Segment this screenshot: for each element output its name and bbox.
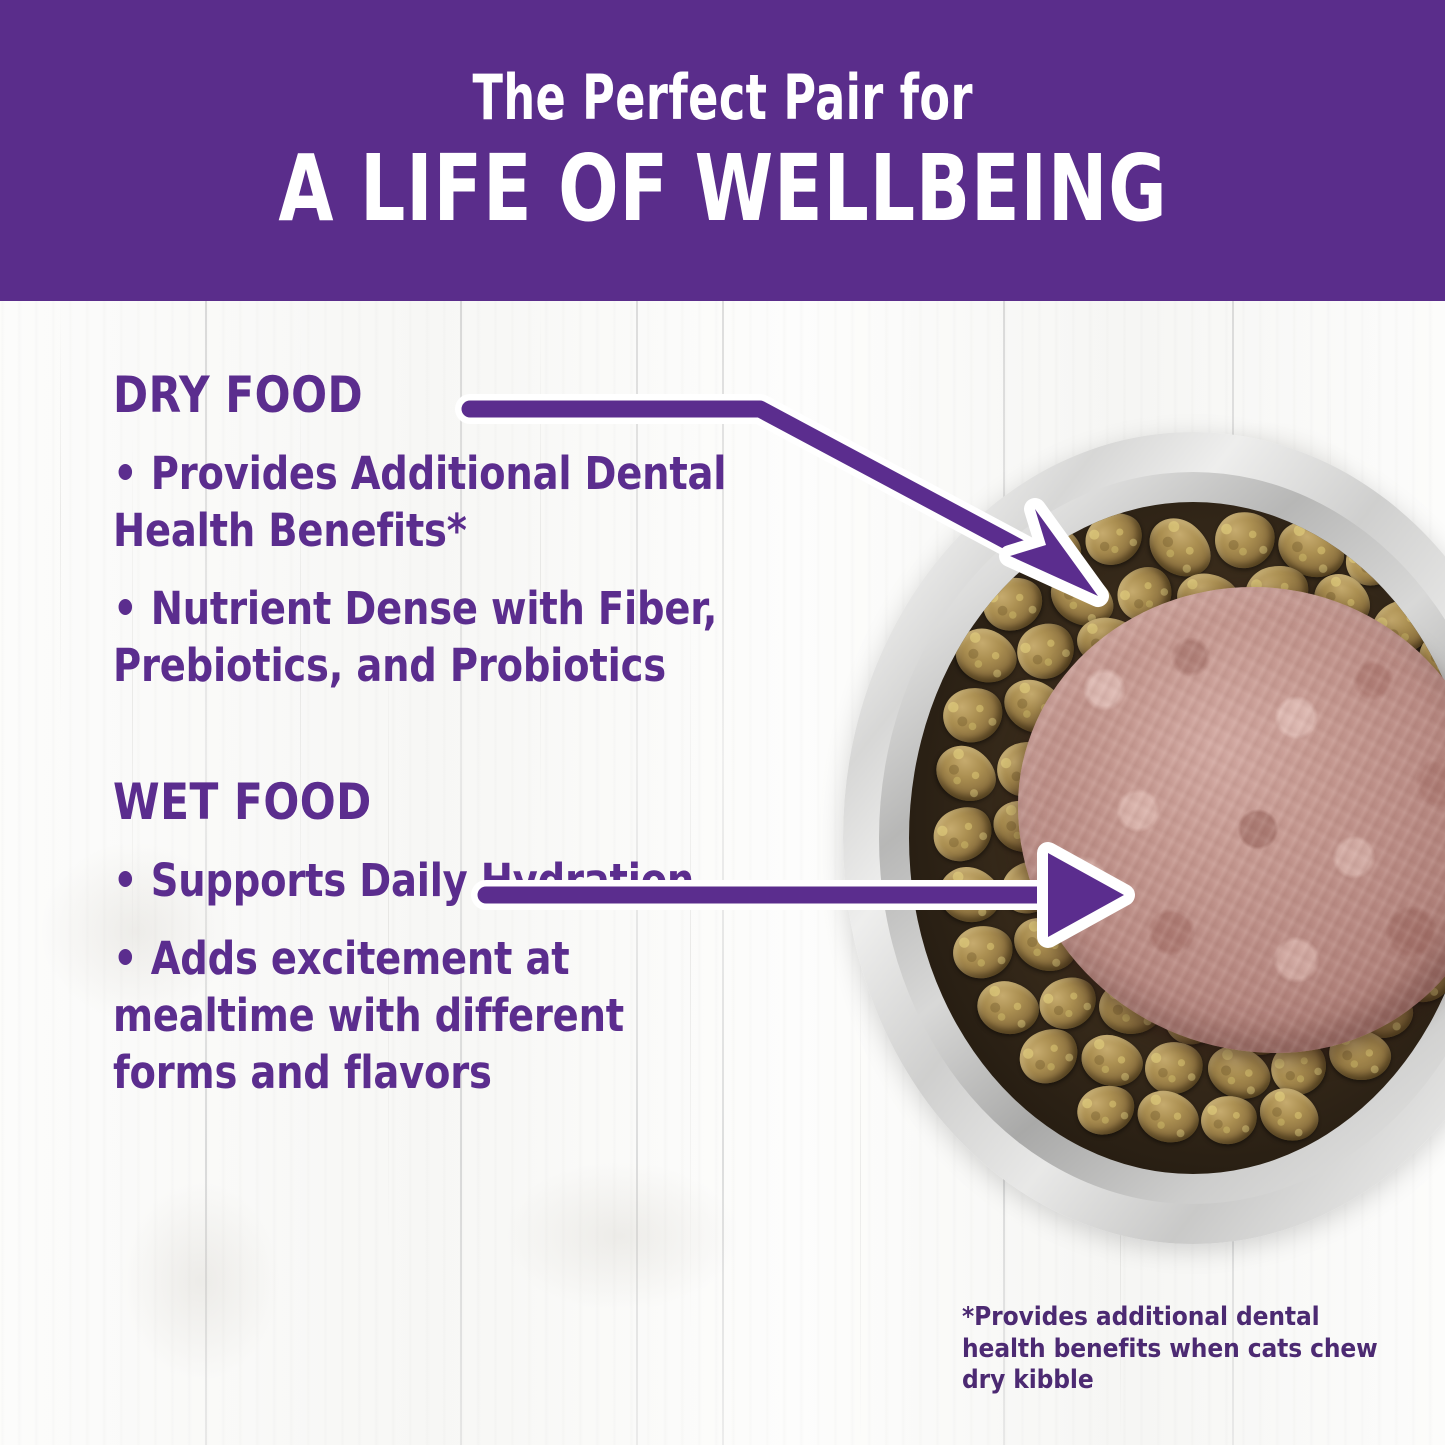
benefits-text-column: DRY FOOD Provides Additional Dental Heal… [113,370,813,1124]
section-title-dry-food: DRY FOOD [113,370,771,420]
infographic-canvas: The Perfect Pair for A LIFE OF WELLBEING… [0,0,1445,1445]
bullet-list-dry-food: Provides Additional Dental Health Benefi… [113,446,813,695]
footnote-text: *Provides additional dental health benef… [962,1302,1382,1397]
header-banner: The Perfect Pair for A LIFE OF WELLBEING [0,0,1445,301]
wood-grain [60,301,61,721]
wood-smudge [120,1181,280,1381]
bullet-item: Nutrient Dense with Fiber, Prebiotics, a… [113,581,740,694]
bullet-item: Adds excitement at mealtime with differe… [113,931,740,1101]
wet-pate-mound [1018,587,1445,1053]
bullet-item: Provides Additional Dental Health Benefi… [113,446,740,559]
header-subtitle: The Perfect Pair for [472,67,972,129]
wood-smudge [500,1161,740,1311]
header-title: A LIFE OF WELLBEING [278,143,1167,235]
section-dry-food: DRY FOOD Provides Additional Dental Heal… [113,370,813,695]
section-wet-food: WET FOOD Supports Daily Hydration Adds e… [113,777,813,1102]
food-bowl-image [843,432,1445,1244]
bullet-item: Supports Daily Hydration [113,853,740,910]
section-title-wet-food: WET FOOD [113,777,771,827]
bullet-list-wet-food: Supports Daily Hydration Adds excitement… [113,853,813,1102]
